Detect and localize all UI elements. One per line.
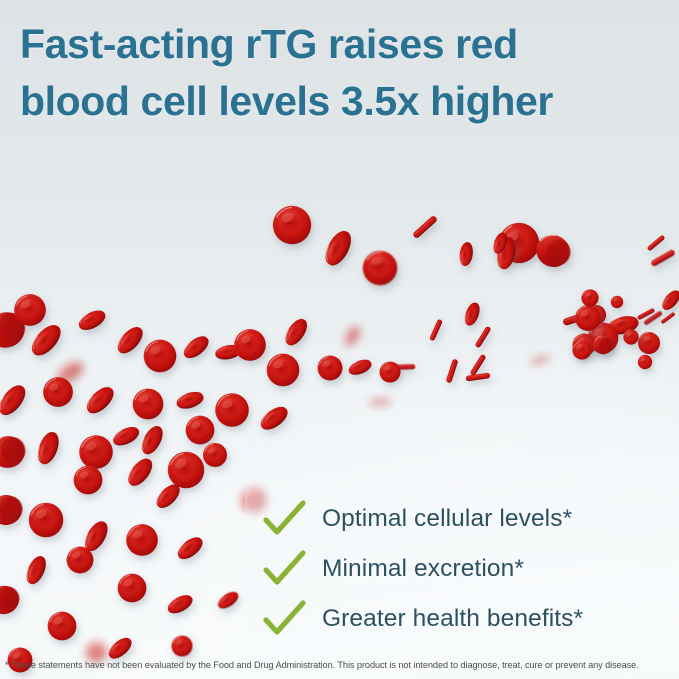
- benefit-label: Optimal cellular levels*: [322, 505, 572, 533]
- promotional-poster: Fast-acting rTG raises red blood cell le…: [0, 0, 679, 679]
- benefit-label: Minimal excretion*: [322, 555, 524, 583]
- page-title: Fast-acting rTG raises red blood cell le…: [20, 16, 670, 130]
- headline-line-1: Fast-acting rTG raises red: [20, 21, 518, 67]
- disclaimer-text: * These statements have not been evaluat…: [5, 660, 677, 670]
- benefit-label: Greater health benefits*: [322, 605, 583, 633]
- list-item: Optimal cellular levels*: [262, 494, 662, 544]
- benefits-list: Optimal cellular levels* Minimal excreti…: [262, 494, 662, 644]
- list-item: Minimal excretion*: [262, 544, 662, 594]
- check-icon: [262, 499, 308, 539]
- check-icon: [262, 549, 308, 589]
- headline-line-2: blood cell levels 3.5x higher: [20, 73, 670, 130]
- check-icon: [262, 599, 308, 639]
- list-item: Greater health benefits*: [262, 594, 662, 644]
